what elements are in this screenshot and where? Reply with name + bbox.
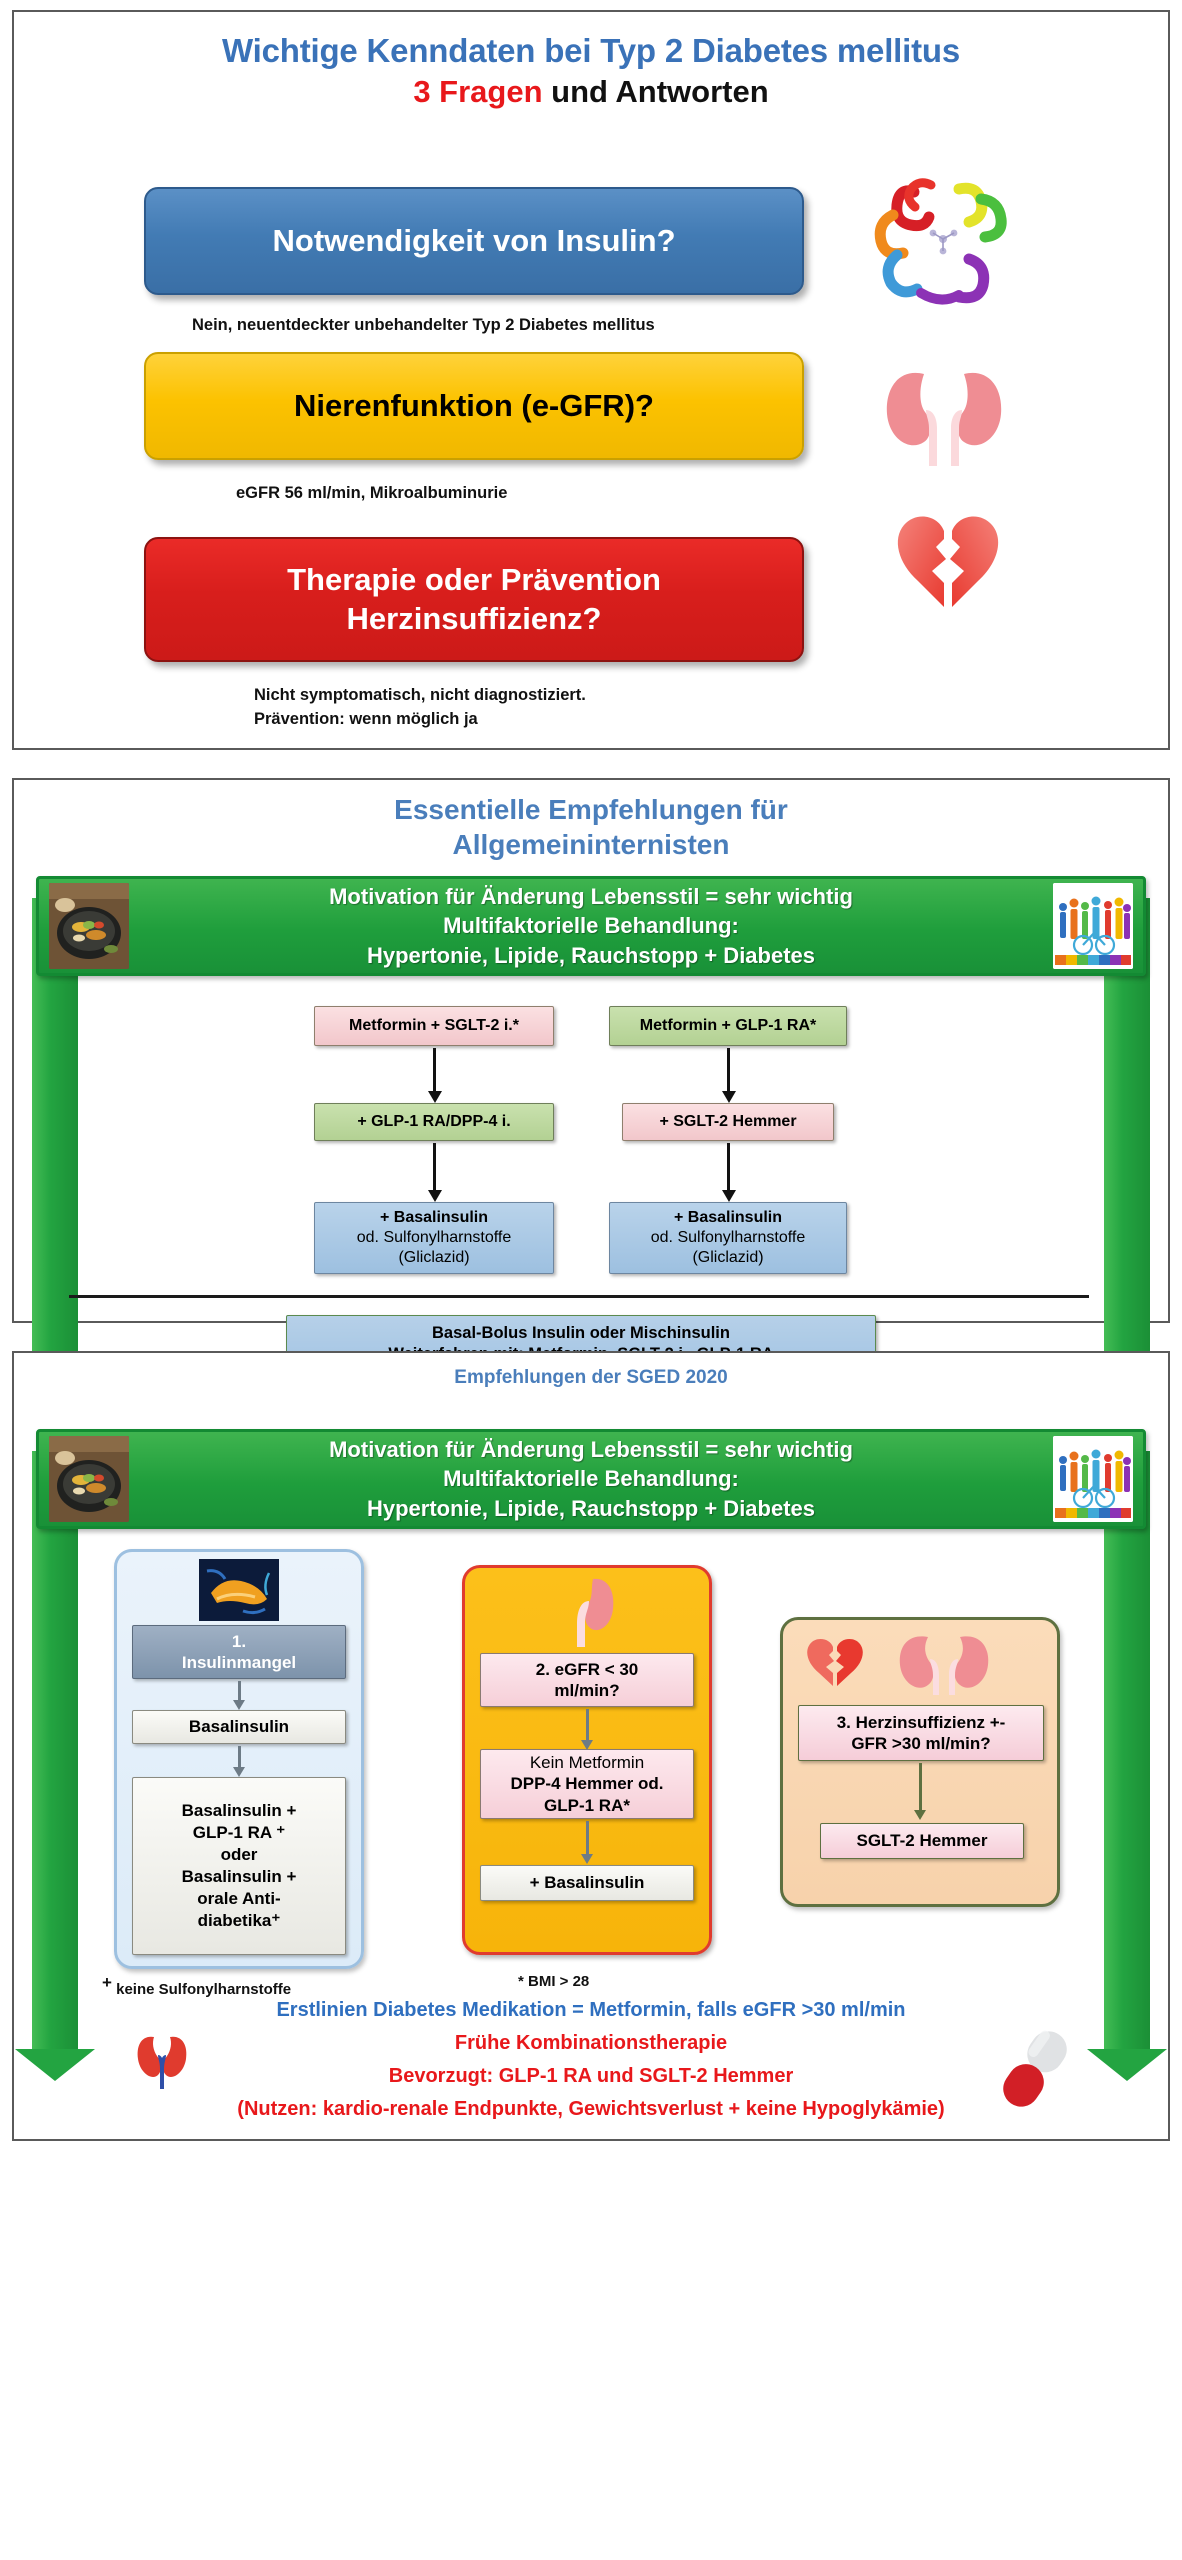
question-label-kidney: Nierenfunktion (e-GFR)?	[294, 387, 654, 426]
arrow-left-2	[433, 1143, 436, 1191]
lifestyle-line1: Motivation für Änderung Lebensstil = seh…	[135, 882, 1047, 911]
broken-heart-icon-p3	[804, 1635, 866, 1693]
lifestyle-line2: Multifaktorielle Behandlung:	[135, 911, 1047, 940]
node-basalinsulin-left-line1: + Basalinsulin	[380, 1208, 488, 1228]
page-title: Wichtige Kenndaten bei Typ 2 Diabetes me…	[14, 32, 1168, 70]
combo-line2: GLP-1 RA ⁺	[193, 1822, 285, 1844]
kidneys-icon-p3	[890, 1631, 998, 1697]
kidneys-small-icon	[134, 2033, 190, 2091]
kein-metformin-line3: GLP-1 RA*	[544, 1795, 630, 1816]
lifestyle-header-banner-p3: Motivation für Änderung Lebensstil = seh…	[36, 1429, 1146, 1529]
arrow-c3-1	[919, 1763, 922, 1811]
green-flow-arrow-right-p3	[1104, 1451, 1150, 2051]
answer-insulin-rest: , neuentdeckter unbehandelter Typ 2 Diab…	[228, 316, 655, 334]
node-basalinsulin-left-line3: (Gliclazid)	[398, 1248, 469, 1268]
combo-line3: oder	[221, 1844, 258, 1866]
question-label-heart-line2: Herzinsuffizienz?	[347, 600, 602, 639]
node-sglt2-hemmer-c3[interactable]: SGLT-2 Hemmer	[820, 1823, 1024, 1859]
node-basalinsulin-left-line2: od. Sulfonylharnstoffe	[357, 1228, 511, 1248]
node-metformin-sglt2[interactable]: Metformin + SGLT-2 i.*	[314, 1006, 554, 1046]
subtitle-rest-part: und Antworten	[543, 74, 769, 109]
hf-line1: 3. Herzinsuffizienz +-	[837, 1712, 1006, 1733]
arrow-c1-2	[238, 1746, 241, 1768]
lifestyle-line1-p3: Motivation für Änderung Lebensstil = seh…	[135, 1435, 1047, 1464]
page-subtitle: 3 Fragen und Antworten	[14, 74, 1168, 110]
hf-line2: GFR >30 ml/min?	[851, 1733, 990, 1754]
note-bmi: * BMI > 28	[518, 1973, 589, 1990]
panel2-title-line2: Allgemeininternisten	[14, 827, 1168, 862]
question-label-heart-line1: Therapie oder Prävention	[287, 561, 661, 600]
insulinmangel-num: 1.	[232, 1631, 246, 1652]
active-people-icon	[1053, 883, 1133, 969]
subtitle-red-part: 3 Fragen	[413, 74, 542, 109]
lifestyle-line3-p3: Hypertonie, Lipide, Rauchstopp + Diabete…	[135, 1494, 1047, 1523]
active-people-icon-p3	[1053, 1436, 1133, 1522]
panel2-title-line1: Essentielle Empfehlungen für	[14, 792, 1168, 827]
node-basalinsulin-right[interactable]: + Basalinsulin od. Sulfonylharnstoffe (G…	[609, 1202, 847, 1274]
panel-key-data: Wichtige Kenndaten bei Typ 2 Diabetes me…	[12, 10, 1170, 750]
section-divider	[69, 1295, 1089, 1298]
kidney-icon	[559, 1575, 617, 1649]
answer-heart-line2: Prävention: wenn möglich ja	[254, 708, 586, 732]
insulinmangel-label: Insulinmangel	[182, 1652, 296, 1673]
node-basalinsulin-combo[interactable]: Basalinsulin + GLP-1 RA ⁺ oder Basalinsu…	[132, 1777, 346, 1955]
arrow-c1-1	[238, 1681, 241, 1701]
arrow-right-1	[727, 1048, 730, 1092]
answer-heart: Nicht symptomatisch, nicht diagnostizier…	[254, 684, 586, 732]
question-button-heart[interactable]: Therapie oder Prävention Herzinsuffizien…	[144, 537, 804, 662]
lifestyle-header-banner: Motivation für Änderung Lebensstil = seh…	[36, 876, 1146, 976]
combo-line4: Basalinsulin +	[182, 1866, 297, 1888]
node-metformin-glp1[interactable]: Metformin + GLP-1 RA*	[609, 1006, 847, 1046]
node-kein-metformin[interactable]: Kein Metformin DPP-4 Hemmer od. GLP-1 RA…	[480, 1749, 694, 1819]
answer-heart-line1: Nicht symptomatisch, nicht diagnostizier…	[254, 684, 586, 708]
node-plus-basalinsulin[interactable]: + Basalinsulin	[480, 1865, 694, 1901]
answer-insulin-bold: Nein	[192, 316, 228, 334]
note-no-sulfonylurea: + keine Sulfonylharnstoffe	[102, 1973, 291, 1998]
note-sup-plus: +	[102, 1973, 112, 1992]
node-insulinmangel[interactable]: 1. Insulinmangel	[132, 1625, 346, 1679]
conclusion-line-1: Erstlinien Diabetes Medikation = Metform…	[14, 1999, 1168, 2022]
arrow-c2-2	[586, 1821, 589, 1855]
node-sglt2-hemmer[interactable]: + SGLT-2 Hemmer	[622, 1103, 834, 1141]
node-basalinsulin-right-line2: od. Sulfonylharnstoffe	[651, 1228, 805, 1248]
node-basalinsulin-right-line3: (Gliclazid)	[692, 1248, 763, 1268]
node-basalinsulin-left[interactable]: + Basalinsulin od. Sulfonylharnstoffe (G…	[314, 1202, 554, 1274]
green-flow-arrow-left-p3	[32, 1451, 78, 2051]
insulin-protein-icon	[859, 167, 1029, 317]
combo-line1: Basalinsulin +	[182, 1800, 297, 1822]
node-basalinsulin-c1[interactable]: Basalinsulin	[132, 1710, 346, 1744]
egfr-line2: ml/min?	[554, 1680, 619, 1701]
panel3-title: Empfehlungen der SGED 2020	[14, 1367, 1168, 1389]
lifestyle-header-text-p3: Motivation für Änderung Lebensstil = seh…	[129, 1435, 1053, 1522]
food-pan-photo-icon	[49, 883, 129, 969]
egfr-line1: 2. eGFR < 30	[536, 1659, 639, 1680]
arrow-right-2	[727, 1143, 730, 1191]
answer-kidney: eGFR 56 ml/min, Mikroalbuminurie	[236, 482, 507, 506]
lifestyle-header-text: Motivation für Änderung Lebensstil = seh…	[129, 882, 1053, 969]
answer-insulin: Nein, neuentdeckter unbehandelter Typ 2 …	[192, 314, 655, 338]
bolus-line1: Basal-Bolus Insulin oder Mischinsulin	[432, 1323, 730, 1344]
panel-sged-2020: Empfehlungen der SGED 2020	[12, 1351, 1170, 2141]
kein-metformin-line2: DPP-4 Hemmer od.	[510, 1773, 663, 1794]
note-no-sulfonylurea-text: keine Sulfonylharnstoffe	[116, 1981, 291, 1998]
infographic-page: Wichtige Kenndaten bei Typ 2 Diabetes me…	[0, 0, 1182, 2177]
node-heart-failure-question[interactable]: 3. Herzinsuffizienz +- GFR >30 ml/min?	[798, 1705, 1044, 1761]
kidneys-icon	[869, 362, 1019, 472]
question-button-kidney[interactable]: Nierenfunktion (e-GFR)?	[144, 352, 804, 460]
panel-essential-recommendations: Essentielle Empfehlungen für Allgemeinin…	[12, 778, 1170, 1323]
arrow-left-1	[433, 1048, 436, 1092]
capsule-pill-icon	[989, 2021, 1081, 2117]
kein-metformin-line1: Kein Metformin	[530, 1752, 644, 1773]
combo-line6: diabetika⁺	[198, 1910, 281, 1932]
arrow-c2-1	[586, 1709, 589, 1741]
panel2-title: Essentielle Empfehlungen für Allgemeinin…	[14, 792, 1168, 862]
broken-heart-icon	[892, 507, 1002, 622]
food-pan-photo-icon-p3	[49, 1436, 129, 1522]
node-egfr-question[interactable]: 2. eGFR < 30 ml/min?	[480, 1653, 694, 1707]
node-glp1-dpp4[interactable]: + GLP-1 RA/DPP-4 i.	[314, 1103, 554, 1141]
lifestyle-line2-p3: Multifaktorielle Behandlung:	[135, 1464, 1047, 1493]
lifestyle-line3: Hypertonie, Lipide, Rauchstopp + Diabete…	[135, 941, 1047, 970]
pancreas-icon	[199, 1559, 279, 1621]
question-label-insulin: Notwendigkeit von Insulin?	[273, 222, 676, 261]
question-button-insulin[interactable]: Notwendigkeit von Insulin?	[144, 187, 804, 295]
node-basalinsulin-right-line1: + Basalinsulin	[674, 1208, 782, 1228]
combo-line5: orale Anti-	[197, 1888, 280, 1910]
